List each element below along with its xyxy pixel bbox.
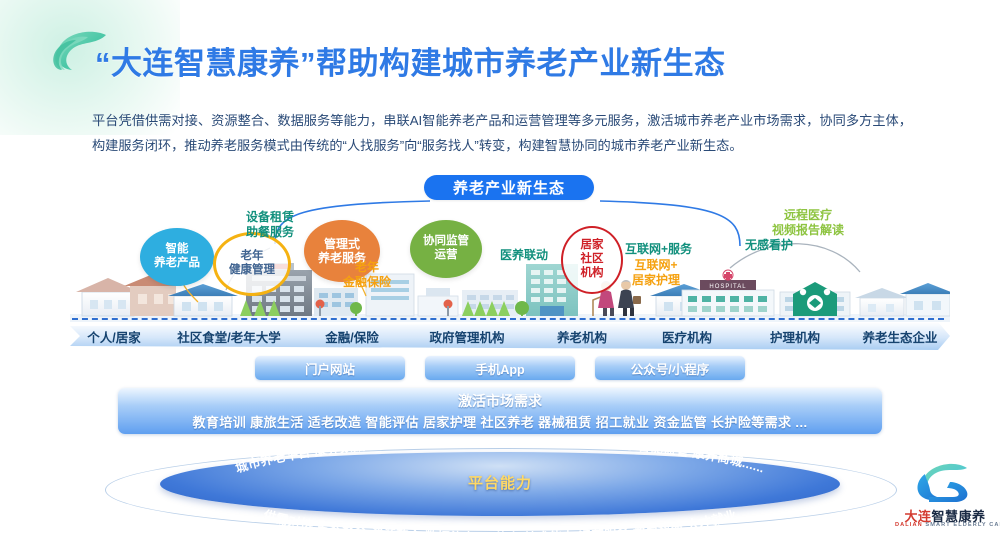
tag-line-1: 设备租赁: [246, 210, 294, 225]
category-finance-insurance: 金融/保险: [300, 327, 404, 346]
tag-internet-plus-service: 互联网+服务: [625, 242, 692, 257]
platform-top-arc-text: 城市养老平台 康养数据空间 智能设备 医养护一体化 智能评估 运营服务 智能监管…: [234, 444, 767, 476]
footer-logo-en-a: DALIAN: [895, 522, 923, 528]
tag-internet-plus-home-care: 互联网+ 居家护理: [632, 258, 680, 288]
category-nursing-institution: 护理机构: [740, 327, 850, 346]
bubble-line-1: 老年: [241, 250, 264, 264]
pill-mobile-app[interactable]: 手机App: [425, 356, 575, 380]
demand-items: 教育培训 康旅生活 适老改造 智能评估 居家护理 社区养老 器械租赁 招工就业 …: [193, 412, 808, 431]
tag-line-2: 金融保险: [343, 275, 391, 290]
bubble-line-2: 养老产品: [154, 257, 200, 271]
bubble-line-1: 智能: [166, 243, 189, 257]
category-medical-institution: 医疗机构: [634, 327, 740, 346]
tag-line-1: 老年: [343, 260, 391, 275]
footer-logo: 大连智慧康养 DALIAN SMART ELDERLY CARE: [895, 458, 995, 536]
ecosystem-banner: 养老产业新生态: [424, 175, 594, 200]
bubble-line-2: 社区: [581, 253, 604, 267]
category-canteen-university: 社区食堂/老年大学: [158, 327, 300, 346]
bubble-smart-elderly-products[interactable]: 智能 养老产品: [140, 228, 214, 286]
bubble-line-3: 机构: [581, 267, 604, 281]
pill-portal-website[interactable]: 门户网站: [255, 356, 405, 380]
slide-root: “大连智慧康养”帮助构建城市养老产业新生态 平台凭借供需对接、资源整合、数据服务…: [0, 0, 1000, 546]
tag-line-2: 居家护理: [632, 273, 680, 288]
bubble-elderly-health-management[interactable]: 老年 健康管理: [213, 232, 291, 296]
platform-capability-ellipse: 城市养老平台 康养数据空间 智能设备 医养护一体化 智能评估 运营服务 智能监管…: [105, 444, 895, 536]
tag-line-1: 互联网+: [632, 258, 680, 273]
pill-official-account[interactable]: 公众号/小程序: [595, 356, 745, 380]
bubble-collaborative-supervision[interactable]: 协同监管 运营: [410, 220, 482, 278]
tag-line-1: 远程医疗: [772, 208, 844, 223]
tag-line-2: 视频报告解读: [772, 223, 844, 238]
tag-line-1: 互联网+服务: [625, 242, 692, 257]
scene-divider-dashed: [72, 318, 944, 320]
bubble-line-2: 运营: [435, 249, 458, 263]
tag-line-1: 无感看护: [745, 238, 793, 253]
footer-logo-en-b: SMART ELDERLY CARE: [925, 522, 1000, 528]
tag-medical-elderly-linkage: 医养联动: [500, 248, 548, 263]
bubble-line-1: 管理式: [324, 237, 360, 251]
ecosystem-scene: 养老产业新生态: [0, 170, 1000, 352]
platform-center-label: 平台能力: [105, 472, 895, 493]
footer-logo-en: DALIAN SMART ELDERLY CARE: [895, 522, 995, 528]
tag-line-2: 助餐服务: [246, 225, 294, 240]
tag-remote-medical: 远程医疗 视频报告解读: [772, 208, 844, 238]
category-elderly-institution: 养老机构: [530, 327, 634, 346]
category-personal-home: 个人/居家: [70, 327, 158, 346]
wave-swoosh-logo-icon: [895, 458, 995, 506]
platform-bottom-arc-text: 供需对接 生态整合 资源整合 数据能力 AI 能力 技术能力 运营服务 教育科研…: [261, 507, 738, 536]
category-ecosystem-companies: 养老生态企业: [850, 327, 950, 346]
category-label-row: 个人/居家 社区食堂/老年大学 金融/保险 政府管理机构 养老机构 医疗机构 护…: [70, 322, 950, 350]
market-demand-band: 激活市场需求 教育培训 康旅生活 适老改造 智能评估 居家护理 社区养老 器械租…: [118, 388, 882, 434]
page-subtitle: 平台凭借供需对接、资源整合、数据服务等能力，串联AI智能养老产品和运营管理等多元…: [92, 108, 912, 158]
channel-pill-row: 门户网站 手机App 公众号/小程序: [0, 356, 1000, 380]
tag-non-sensing-care: 无感看护: [745, 238, 793, 253]
bubble-line-1: 居家: [581, 239, 604, 253]
tag-equipment-rental: 设备租赁 助餐服务: [246, 210, 294, 240]
demand-title: 激活市场需求: [458, 391, 542, 411]
tag-line-1: 医养联动: [500, 248, 548, 263]
bubble-line-1: 协同监管: [423, 235, 469, 249]
page-title: “大连智慧康养”帮助构建城市养老产业新生态: [95, 38, 726, 83]
bubble-line-2: 健康管理: [229, 264, 275, 278]
category-government: 政府管理机构: [404, 327, 530, 346]
bubble-home-community-institution[interactable]: 居家 社区 机构: [561, 226, 623, 294]
tag-elderly-finance-insurance: 老年 金融保险: [343, 260, 391, 290]
